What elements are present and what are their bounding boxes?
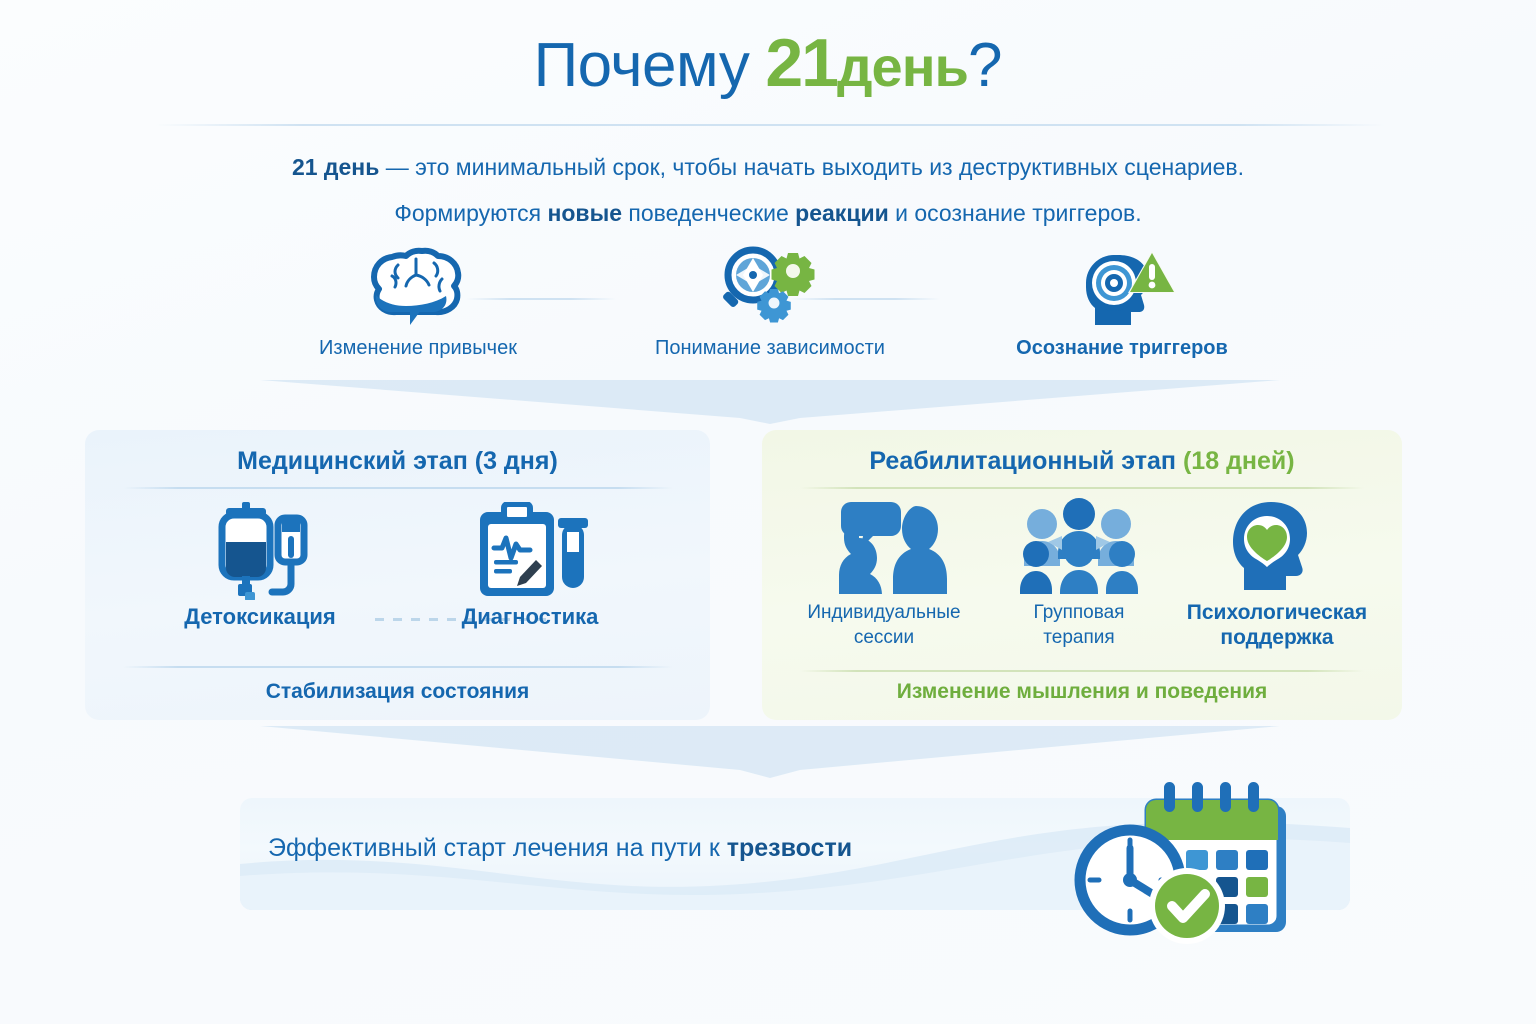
top-item-label: Изменение привычек (268, 337, 568, 360)
rehab-item-label-line1: Психологическая (1187, 601, 1367, 624)
group-people-icon (984, 498, 1174, 594)
medical-panel-divider (123, 487, 673, 489)
subtitle-block: 21 день — это минимальный срок, чтобы на… (0, 144, 1536, 236)
rehab-item-label: Групповая терапия (984, 600, 1174, 650)
funnel-connector-top (260, 378, 1280, 426)
top-item-triggers: Осознание триггеров (972, 243, 1272, 360)
two-people-speech-icon (784, 498, 984, 594)
medical-stage-panel: Медицинский этап (3 дня) (85, 430, 710, 720)
rehab-item-group: Групповая терапия (984, 498, 1174, 650)
calendar-clock-check-icon (1068, 782, 1318, 948)
title-question-mark: ? (968, 31, 1002, 100)
top-item-understanding: Понимание зависимости (620, 243, 920, 360)
magnifier-gears-icon (620, 243, 920, 329)
rehab-item-label-line2: терапия (1043, 627, 1114, 648)
rehab-item-psych-support: Психологическая поддержка (1162, 498, 1392, 650)
rehab-item-label: Психологическая поддержка (1162, 600, 1392, 650)
top-icon-row: Изменение привычек (290, 243, 1250, 375)
rehab-item-label-line1: Групповая (1034, 602, 1125, 623)
rehab-item-individual: Индивидуальные сессии (784, 498, 984, 650)
subtitle-line-1: 21 день — это минимальный срок, чтобы на… (0, 144, 1536, 190)
funnel-connector-bottom (260, 722, 1280, 780)
medical-items: Детоксикация (85, 502, 710, 652)
rehab-title-days: (18 дней) (1183, 447, 1295, 475)
title-divider (155, 124, 1385, 126)
rehab-panel-divider (800, 487, 1363, 489)
medical-item-detox: Детоксикация (145, 502, 375, 630)
rehab-item-label-line2: поддержка (1220, 626, 1333, 649)
top-item-label: Осознание триггеров (972, 337, 1272, 360)
subtitle-l2-c: поведенческие (622, 200, 795, 226)
subtitle-l2-d: реакции (795, 200, 889, 226)
medical-stage-footer: Стабилизация состояния (85, 680, 710, 704)
subtitle-l2-a: Формируются (394, 200, 547, 226)
top-item-habits: Изменение привычек (268, 243, 568, 360)
medical-footer-divider (123, 666, 673, 668)
medical-stage-title: Медицинский этап (3 дня) (85, 430, 710, 476)
subtitle-lead: 21 день (292, 154, 379, 180)
rehab-item-label-line2: сессии (854, 627, 914, 648)
iv-drip-icon (145, 502, 375, 600)
rehab-items: Индивидуальные сессии (762, 498, 1402, 668)
top-item-label: Понимание зависимости (620, 337, 920, 360)
subtitle-line-2: Формируются новые поведенческие реакции … (0, 190, 1536, 236)
medical-title-days: (3 дня) (468, 447, 558, 475)
rehab-item-label: Индивидуальные сессии (784, 600, 984, 650)
brain-icon (268, 243, 568, 329)
clipboard-ecg-testtube-icon (415, 502, 645, 600)
rehab-stage-footer: Изменение мышления и поведения (762, 680, 1402, 704)
title-number: 21 (765, 25, 837, 101)
medical-title-main: Медицинский этап (237, 447, 468, 475)
rehab-footer-divider (800, 670, 1363, 672)
rehab-item-label-line1: Индивидуальные (807, 602, 960, 623)
page-title: Почему21день? (0, 24, 1536, 102)
title-word-why: Почему (534, 31, 750, 100)
infographic-canvas: Почему21день? 21 день — это минимальный … (0, 0, 1536, 1024)
rehab-stage-title: Реабилитационный этап (18 дней) (762, 430, 1402, 476)
rehab-stage-panel: Реабилитационный этап (18 дней) Индивиду… (762, 430, 1402, 720)
head-target-alert-icon (972, 243, 1272, 329)
banner-text: Эффективный старт лечения на пути к трез… (268, 834, 852, 863)
title-word-day: день (837, 35, 968, 98)
subtitle-line-1-rest: — это минимальный срок, чтобы начать вых… (379, 154, 1244, 180)
banner-text-b: трезвости (727, 834, 852, 862)
medical-item-label: Диагностика (415, 604, 645, 630)
head-heart-icon (1162, 498, 1392, 594)
medical-item-label: Детоксикация (145, 604, 375, 630)
subtitle-l2-e: и осознание триггеров. (889, 200, 1142, 226)
rehab-title-main: Реабилитационный этап (869, 447, 1176, 475)
medical-item-diagnostics: Диагностика (415, 502, 645, 630)
subtitle-l2-b: новые (547, 200, 622, 226)
banner-text-a: Эффективный старт лечения на пути к (268, 834, 727, 862)
